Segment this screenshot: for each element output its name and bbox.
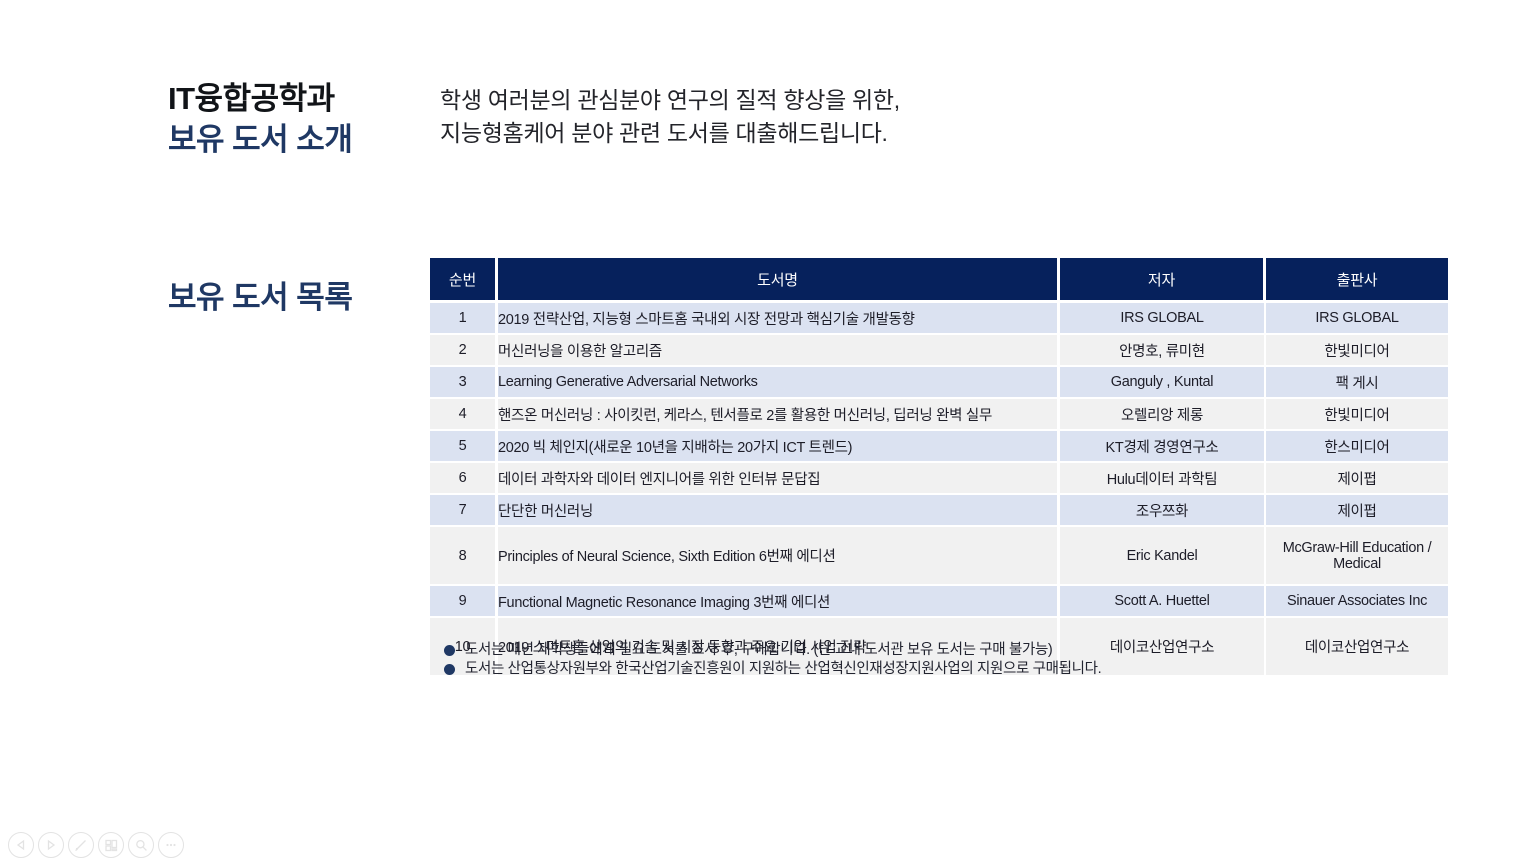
- table-body: 1 2019 전략산업, 지능형 스마트홈 국내외 시장 전망과 핵심기술 개발…: [430, 303, 1448, 675]
- cell-title: 2020 빅 체인지(새로운 10년을 지배하는 20가지 ICT 트렌드): [498, 431, 1060, 463]
- note-item: 도서는 산업통상자원부와 한국산업기술진흥원이 지원하는 산업혁신인재성장지원사…: [444, 660, 1444, 679]
- cell-publisher: 한빛미디어: [1266, 335, 1448, 367]
- table-row: 6 데이터 과학자와 데이터 엔지니어를 위한 인터뷰 문답집 Hulu데이터 …: [430, 463, 1448, 495]
- slide-header: IT융합공학과 보유 도서 소개 학생 여러분의 관심분야 연구의 질적 향상을…: [0, 78, 1536, 188]
- cell-publisher: McGraw-Hill Education / Medical: [1266, 527, 1448, 586]
- column-header-author: 저자: [1060, 258, 1266, 303]
- cell-title: 머신러닝을 이용한 알고리즘: [498, 335, 1060, 367]
- book-list-table: 순번 도서명 저자 출판사 1 2019 전략산업, 지능형 스마트홈 국내외 …: [430, 258, 1448, 675]
- cell-title: 2019 전략산업, 지능형 스마트홈 국내외 시장 전망과 핵심기술 개발동향: [498, 303, 1060, 335]
- subtitle-line-2: 지능형홈케어 분야 관련 도서를 대출해드립니다.: [440, 117, 1440, 150]
- cell-author: Hulu데이터 과학팀: [1060, 463, 1266, 495]
- cell-title: 핸즈온 머신러닝 : 사이킷런, 케라스, 텐서플로 2를 활용한 머신러닝, …: [498, 399, 1060, 431]
- next-slide-icon: [44, 838, 58, 852]
- table-header: 순번 도서명 저자 출판사: [430, 258, 1448, 303]
- column-header-publisher: 출판사: [1266, 258, 1448, 303]
- cell-no: 1: [430, 303, 498, 335]
- column-header-no: 순번: [430, 258, 498, 303]
- cell-publisher: Sinauer Associates Inc: [1266, 586, 1448, 618]
- previous-slide-icon: [14, 838, 28, 852]
- slide-layout-icon: [104, 838, 119, 853]
- table-row: 5 2020 빅 체인지(새로운 10년을 지배하는 20가지 ICT 트렌드)…: [430, 431, 1448, 463]
- table-row: 2 머신러닝을 이용한 알고리즘 안명호, 류미현 한빛미디어: [430, 335, 1448, 367]
- cell-title: Functional Magnetic Resonance Imaging 3번…: [498, 586, 1060, 618]
- bullet-icon: [444, 645, 455, 656]
- cell-no: 8: [430, 527, 498, 586]
- next-slide-button[interactable]: [38, 832, 64, 858]
- previous-slide-button[interactable]: [8, 832, 34, 858]
- cell-author: KT경제 경영연구소: [1060, 431, 1266, 463]
- page-title-line-2: 보유 도서 소개: [168, 119, 420, 160]
- cell-publisher: 팩 게시: [1266, 367, 1448, 399]
- note-text: 도서는 매년 재학생들에게 필요 도서를 조사 후, 구매합니다. (단 교내 …: [465, 641, 1052, 660]
- zoom-button[interactable]: [128, 832, 154, 858]
- cell-publisher: 한스미디어: [1266, 431, 1448, 463]
- table-row: 1 2019 전략산업, 지능형 스마트홈 국내외 시장 전망과 핵심기술 개발…: [430, 303, 1448, 335]
- cell-author: 안명호, 류미현: [1060, 335, 1266, 367]
- bullet-icon: [444, 664, 455, 675]
- more-options-button[interactable]: [158, 832, 184, 858]
- cell-no: 9: [430, 586, 498, 618]
- cell-author: 조우쯔화: [1060, 495, 1266, 527]
- cell-no: 5: [430, 431, 498, 463]
- table-row: 7 단단한 머신러닝 조우쯔화 제이펍: [430, 495, 1448, 527]
- cell-no: 6: [430, 463, 498, 495]
- cell-title: 데이터 과학자와 데이터 엔지니어를 위한 인터뷰 문답집: [498, 463, 1060, 495]
- pen-button[interactable]: [68, 832, 94, 858]
- zoom-icon: [134, 838, 149, 853]
- slide-layout-button[interactable]: [98, 832, 124, 858]
- column-header-title: 도서명: [498, 258, 1060, 303]
- table-row: 9 Functional Magnetic Resonance Imaging …: [430, 586, 1448, 618]
- note-text: 도서는 산업통상자원부와 한국산업기술진흥원이 지원하는 산업혁신인재성장지원사…: [465, 660, 1101, 679]
- table-header-row: 순번 도서명 저자 출판사: [430, 258, 1448, 303]
- cell-no: 7: [430, 495, 498, 527]
- more-options-icon: [163, 837, 179, 853]
- cell-title: Principles of Neural Science, Sixth Edit…: [498, 527, 1060, 586]
- section-heading: 보유 도서 목록: [168, 272, 352, 317]
- cell-publisher: 제이펍: [1266, 495, 1448, 527]
- cell-title: 단단한 머신러닝: [498, 495, 1060, 527]
- cell-no: 3: [430, 367, 498, 399]
- table-row: 3 Learning Generative Adversarial Networ…: [430, 367, 1448, 399]
- cell-author: 오렐리앙 제롱: [1060, 399, 1266, 431]
- subtitle-line-1: 학생 여러분의 관심분야 연구의 질적 향상을 위한,: [440, 84, 1440, 117]
- pen-icon: [73, 837, 89, 853]
- page-title-line-1: IT융합공학과: [168, 78, 420, 119]
- cell-title: Learning Generative Adversarial Networks: [498, 367, 1060, 399]
- table-row: 4 핸즈온 머신러닝 : 사이킷런, 케라스, 텐서플로 2를 활용한 머신러닝…: [430, 399, 1448, 431]
- cell-author: IRS GLOBAL: [1060, 303, 1266, 335]
- cell-author: Scott A. Huettel: [1060, 586, 1266, 618]
- cell-no: 4: [430, 399, 498, 431]
- presentation-toolbar[interactable]: [8, 832, 184, 858]
- cell-publisher: 제이펍: [1266, 463, 1448, 495]
- cell-author: Eric Kandel: [1060, 527, 1266, 586]
- cell-publisher: 한빛미디어: [1266, 399, 1448, 431]
- note-item: 도서는 매년 재학생들에게 필요 도서를 조사 후, 구매합니다. (단 교내 …: [444, 641, 1444, 660]
- cell-publisher: IRS GLOBAL: [1266, 303, 1448, 335]
- table-row: 8 Principles of Neural Science, Sixth Ed…: [430, 527, 1448, 586]
- subtitle-block: 학생 여러분의 관심분야 연구의 질적 향상을 위한, 지능형홈케어 분야 관련…: [440, 84, 1440, 150]
- notes-list: 도서는 매년 재학생들에게 필요 도서를 조사 후, 구매합니다. (단 교내 …: [444, 641, 1444, 679]
- cell-no: 2: [430, 335, 498, 367]
- cell-author: Ganguly , Kuntal: [1060, 367, 1266, 399]
- title-block: IT융합공학과 보유 도서 소개: [168, 78, 420, 160]
